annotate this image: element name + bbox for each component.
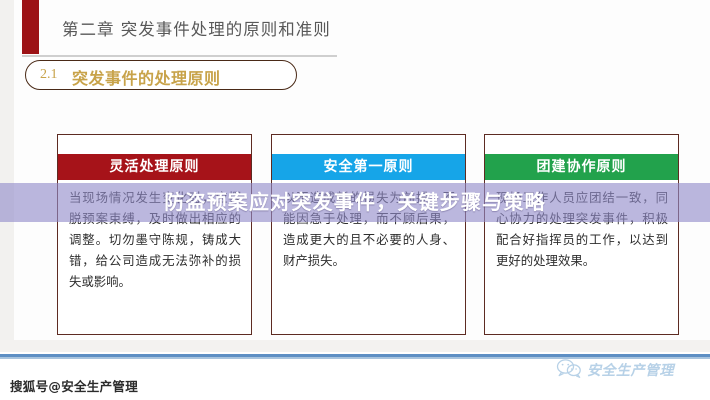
overlay-headline: 防盗预案应对突发事件，关键步骤与策略	[0, 183, 710, 222]
principle-card-2: 安全第一原则 以不造成新的损失为前提，不能因急于处理，而不顾后果，造成更大的且不…	[271, 134, 466, 335]
watermark: 安全生产管理	[556, 358, 674, 382]
slide-left-margin-strip	[0, 0, 14, 352]
principle-card-3: 团建协作原则 现场工作人员应团结一致，同心协力的处理突发事件，积极配合好指挥员的…	[484, 134, 679, 335]
footer-brand-label: 搜狐号@安全生产管理	[10, 376, 138, 395]
wechat-bubbles-icon	[556, 358, 582, 383]
principle-card-3-title: 团建协作原则	[485, 154, 678, 180]
section-number: 2.1	[40, 67, 58, 83]
principle-card-1-title: 灵活处理原则	[58, 154, 251, 180]
watermark-text: 安全生产管理	[587, 360, 674, 380]
principle-card-1: 灵活处理原则 当现场情况发生变化时，应摆脱预案束缚，及时做出相应的调整。切勿墨守…	[57, 134, 252, 335]
chapter-divider-rule	[22, 55, 337, 57]
slide-bottom-margin-strip	[0, 340, 710, 352]
chapter-accent-bar	[22, 0, 39, 54]
slide-canvas: 第二章 突发事件处理的原则和准则 2.1 突发事件的处理原则 灵活处理原则 当现…	[0, 0, 710, 352]
section-label: 突发事件的处理原则	[72, 65, 221, 89]
screenshot-root: 第二章 突发事件处理的原则和准则 2.1 突发事件的处理原则 灵活处理原则 当现…	[0, 0, 710, 400]
chapter-title: 第二章 突发事件处理的原则和准则	[62, 16, 331, 40]
principle-card-2-title: 安全第一原则	[272, 154, 465, 180]
